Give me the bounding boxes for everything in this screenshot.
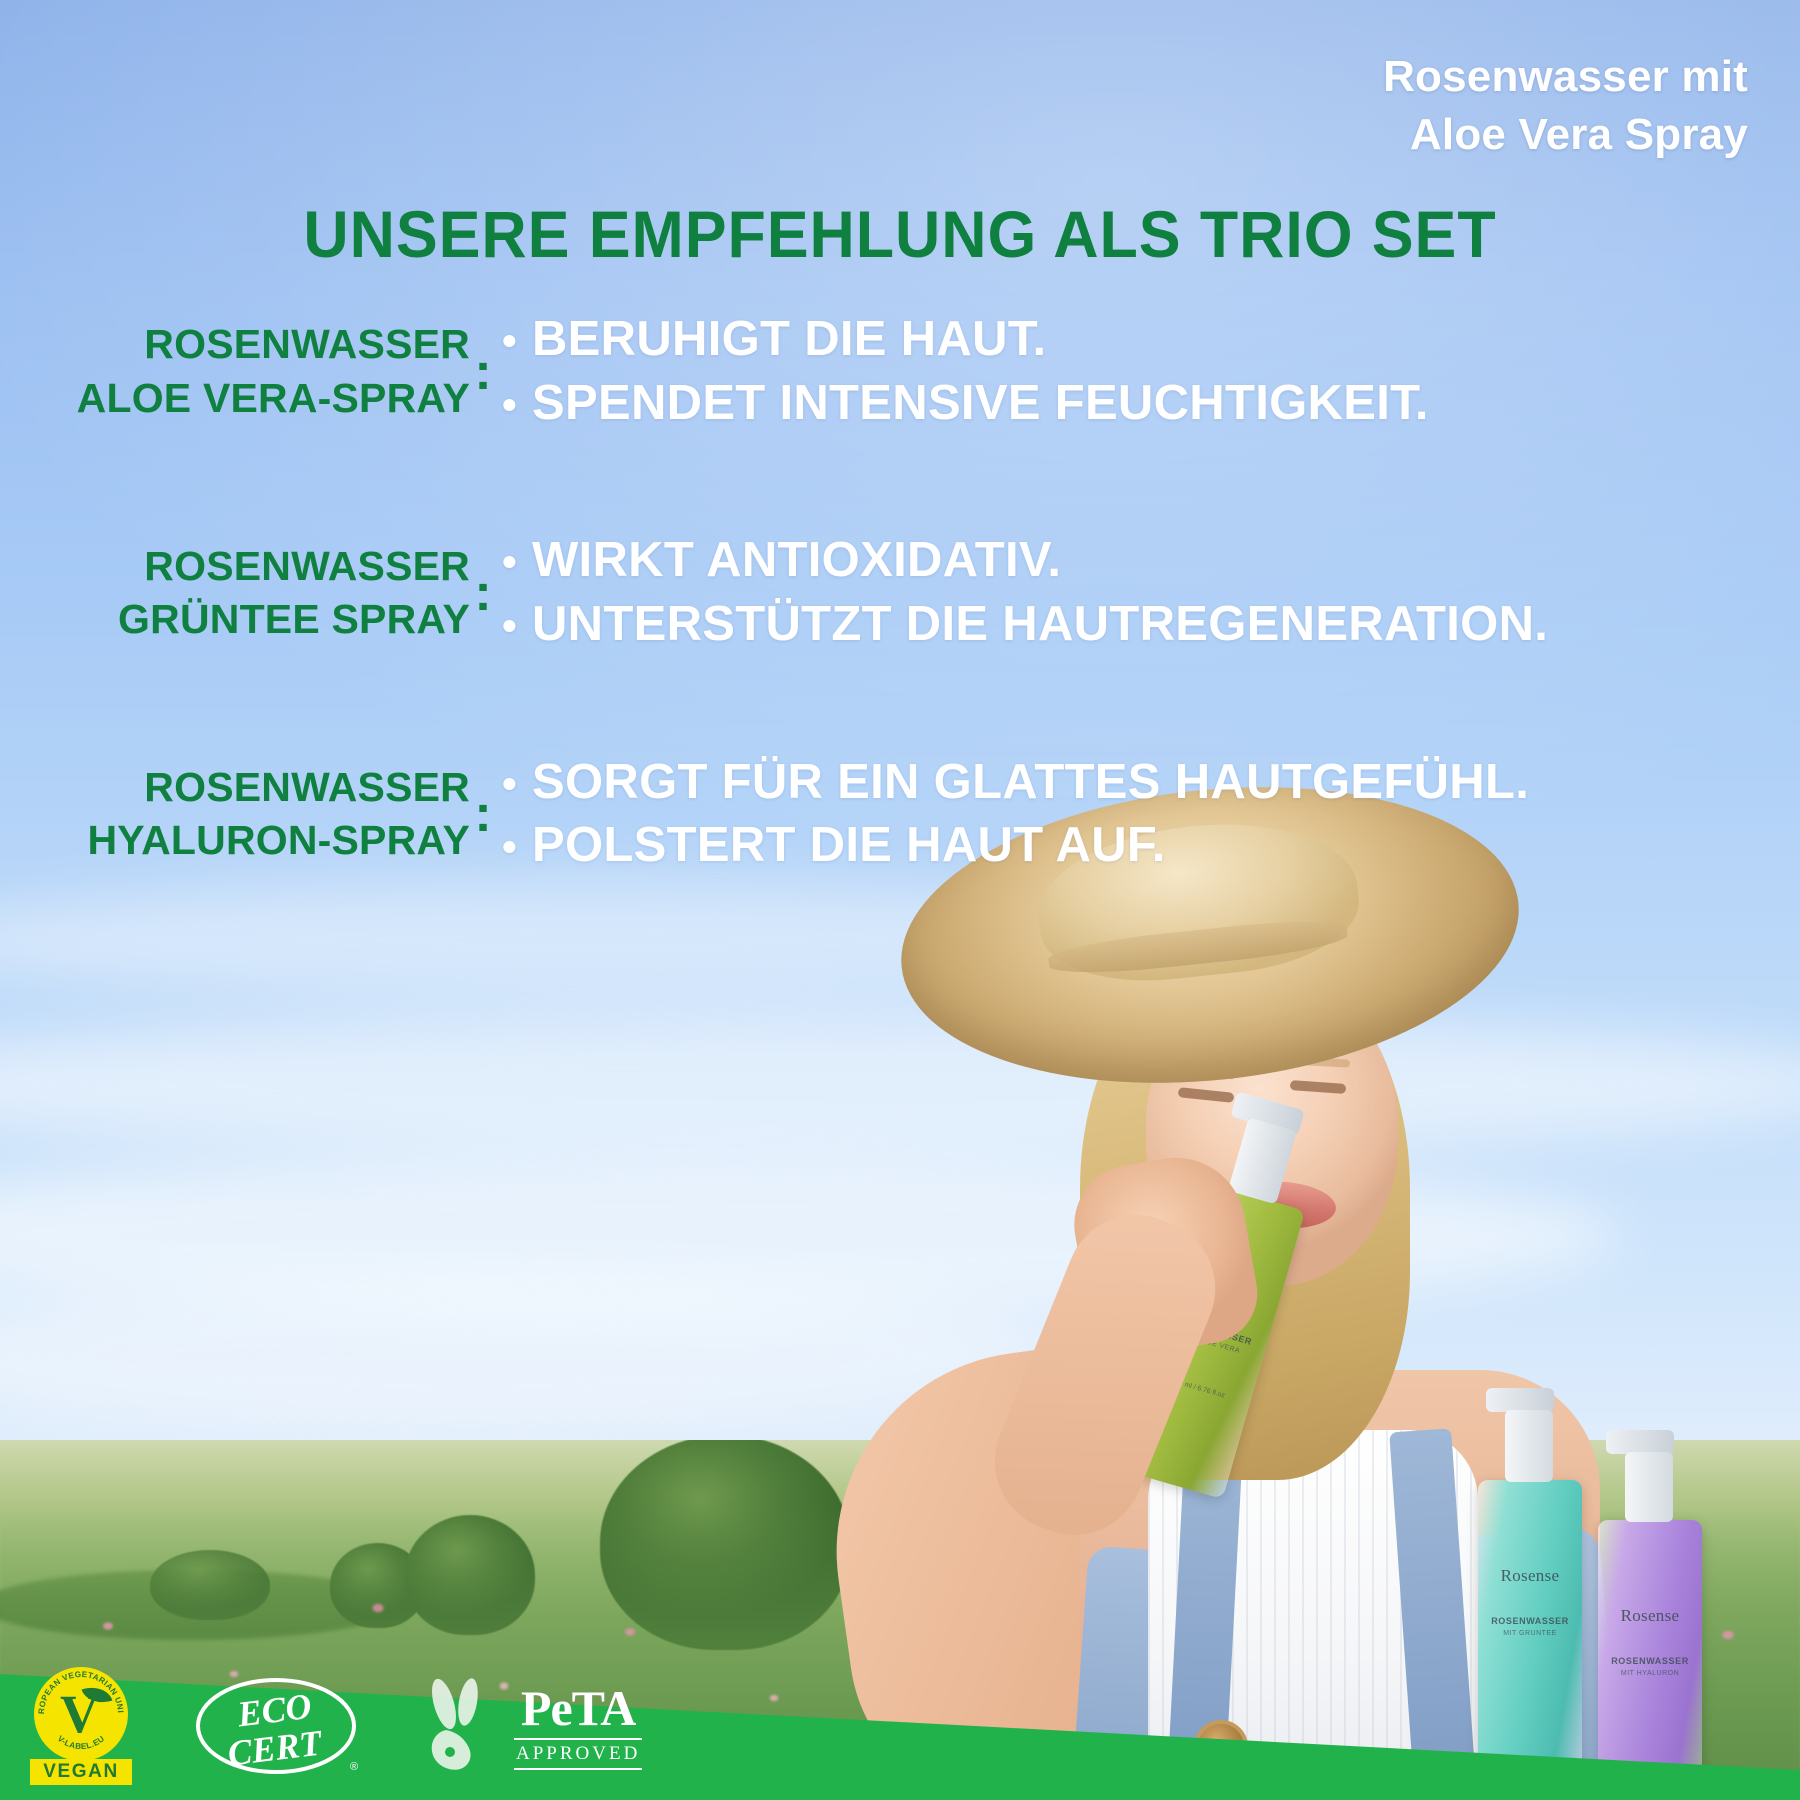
page-title: UNSERE EMPFEHLUNG ALS TRIO SET [45, 196, 1755, 272]
product-label: ROSENWASSER ALOE VERA-SPRAY [0, 318, 470, 425]
benefit-text: WIRKT ANTIOXIDATIV. [532, 529, 1061, 593]
benefit-row-hyaluron: ROSENWASSER HYALURON-SPRAY : • SORGT FÜR… [0, 751, 1800, 878]
bullet-dot-icon: • [502, 599, 532, 654]
peta-wordmark: PeTA [521, 1683, 635, 1733]
benefit-row-gruentee: ROSENWASSER GRÜNTEE SPRAY : • WIRKT ANTI… [0, 529, 1800, 656]
benefit-row-aloe-vera: ROSENWASSER ALOE VERA-SPRAY : • BERUHIGT… [0, 308, 1800, 435]
separator-colon: : [470, 567, 496, 619]
benefit-text: UNTERSTÜTZT DIE HAUTREGENERATION. [532, 593, 1548, 657]
benefit-rows: ROSENWASSER ALOE VERA-SPRAY : • BERUHIGT… [0, 308, 1800, 878]
bottle-cap [1505, 1410, 1553, 1482]
peta-approved-caption: APPROVED [514, 1738, 642, 1770]
list-item: • SORGT FÜR EIN GLATTES HAUTGEFÜHL. [502, 751, 1800, 815]
ecocert-logo: ECO CERT ® [188, 1674, 364, 1778]
model-photo: Rosense ROSENWASSER MIT ALOE VERA 200 ml… [780, 790, 1680, 1800]
list-item: • SPENDET INTENSIVE FEUCHTIGKEIT. [502, 372, 1800, 436]
benefit-text: SPENDET INTENSIVE FEUCHTIGKEIT. [532, 372, 1429, 436]
badge-vegan: EUROPEAN VEGETARIAN UNION V-LABEL.EU V V… [26, 1667, 136, 1785]
benefit-text: BERUHIGT DIE HAUT. [532, 308, 1046, 372]
svg-text:®: ® [350, 1761, 358, 1773]
bottle-subtitle: MIT GRÜNTEE [1478, 1630, 1582, 1637]
product-label-line1: ROSENWASSER [0, 761, 470, 814]
corner-title-line2: Aloe Vera Spray [1383, 106, 1748, 164]
certification-badges: EUROPEAN VEGETARIAN UNION V-LABEL.EU V V… [0, 1652, 1800, 1800]
bottle-cap [1625, 1452, 1673, 1522]
list-item: • BERUHIGT DIE HAUT. [502, 308, 1800, 372]
bullet-dot-icon: • [502, 314, 532, 369]
rabbit-icon [416, 1676, 502, 1776]
list-item: • UNTERSTÜTZT DIE HAUTREGENERATION. [502, 593, 1800, 657]
benefit-list: • WIRKT ANTIOXIDATIV. • UNTERSTÜTZT DIE … [496, 529, 1800, 656]
separator-colon: : [470, 788, 496, 840]
spray-nozzle-icon [1486, 1388, 1554, 1412]
benefit-text: POLSTERT DIE HAUT AUF. [532, 814, 1166, 878]
list-item: • POLSTERT DIE HAUT AUF. [502, 814, 1800, 878]
badge-ecocert: ECO CERT ® [188, 1674, 364, 1778]
corner-product-title: Rosenwasser mit Aloe Vera Spray [1383, 48, 1748, 164]
product-label-line1: ROSENWASSER [0, 318, 470, 371]
vegan-caption: VEGAN [30, 1759, 132, 1785]
product-label-line2: GRÜNTEE SPRAY [0, 593, 470, 646]
bottle-brand: Rosense [1478, 1566, 1582, 1586]
product-label: ROSENWASSER HYALURON-SPRAY [0, 761, 470, 868]
badge-peta: PeTA APPROVED [416, 1673, 666, 1779]
spray-nozzle-icon [1606, 1430, 1674, 1454]
benefit-list: • SORGT FÜR EIN GLATTES HAUTGEFÜHL. • PO… [496, 751, 1800, 878]
corner-title-line1: Rosenwasser mit [1383, 48, 1748, 106]
promo-image: Rosense ROSENWASSER MIT ALOE VERA 200 ml… [0, 0, 1800, 1800]
product-label-line2: ALOE VERA-SPRAY [0, 372, 470, 425]
bullet-dot-icon: • [502, 757, 532, 812]
bullet-dot-icon: • [502, 535, 532, 590]
benefit-text: SORGT FÜR EIN GLATTES HAUTGEFÜHL. [532, 751, 1529, 815]
product-label-line1: ROSENWASSER [0, 540, 470, 593]
separator-colon: : [470, 346, 496, 398]
bottle-label: Rosense ROSENWASSER MIT GRÜNTEE [1478, 1566, 1582, 1637]
product-label-line2: HYALURON-SPRAY [0, 814, 470, 867]
benefit-list: • BERUHIGT DIE HAUT. • SPENDET INTENSIVE… [496, 308, 1800, 435]
product-label: ROSENWASSER GRÜNTEE SPRAY [0, 540, 470, 647]
list-item: • WIRKT ANTIOXIDATIV. [502, 529, 1800, 593]
bullet-dot-icon: • [502, 820, 532, 875]
bullet-dot-icon: • [502, 378, 532, 433]
bottle-product: ROSENWASSER [1478, 1616, 1582, 1626]
bottle-brand: Rosense [1598, 1606, 1702, 1626]
